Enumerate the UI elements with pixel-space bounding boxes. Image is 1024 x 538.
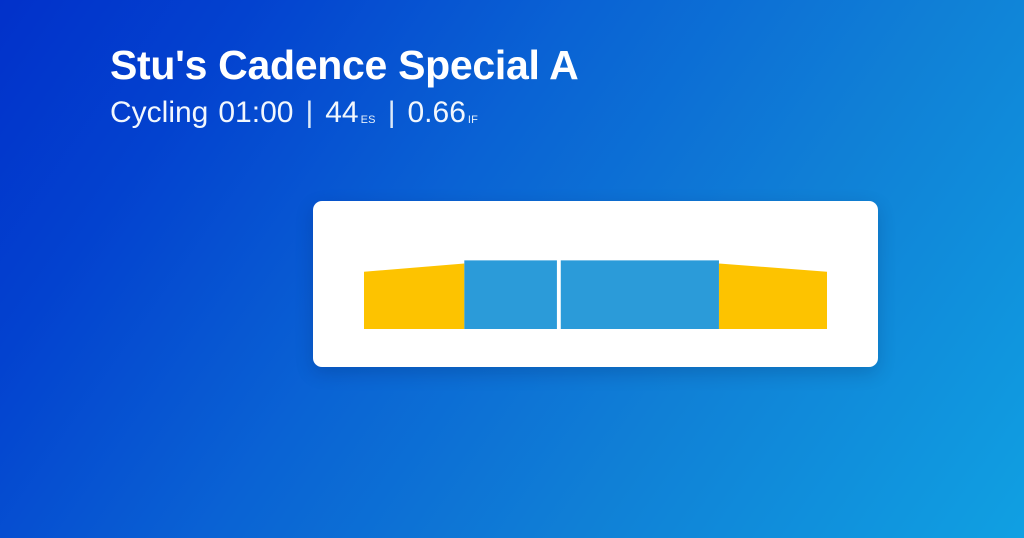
header: Stu's Cadence Special A Cycling 01:00 | … xyxy=(110,44,930,130)
summary-separator-1: | xyxy=(305,96,313,130)
stress-metric: 44 ES xyxy=(325,96,375,130)
intensity-unit: IF xyxy=(468,114,478,126)
duration-label: 01:00 xyxy=(218,96,293,130)
stress-unit: ES xyxy=(361,114,376,126)
chart-segment: Warm Up xyxy=(364,263,464,329)
sport-label: Cycling xyxy=(110,96,208,130)
chart-segment-group: Warm UpCadence Interval 1Cadence Interva… xyxy=(364,260,827,329)
summary-separator-2: | xyxy=(388,96,396,130)
page-title: Stu's Cadence Special A xyxy=(110,44,930,87)
workout-profile-chart: Warm UpCadence Interval 1Cadence Interva… xyxy=(313,201,878,367)
chart-segment: Cadence Interval 1 xyxy=(464,260,557,329)
intensity-metric: 0.66 IF xyxy=(408,96,479,130)
workout-summary: Cycling 01:00 | 44 ES | 0.66 IF xyxy=(110,96,930,130)
chart-segment: Cool Down xyxy=(719,263,827,329)
footer: Powered by TT trainingtilt xyxy=(0,425,1024,515)
chart-segment: Cadence Interval 2 xyxy=(561,260,719,329)
workout-chart-card: Warm UpCadence Interval 1Cadence Interva… xyxy=(313,201,878,367)
intensity-value: 0.66 xyxy=(408,96,466,130)
stress-value: 44 xyxy=(325,96,358,130)
